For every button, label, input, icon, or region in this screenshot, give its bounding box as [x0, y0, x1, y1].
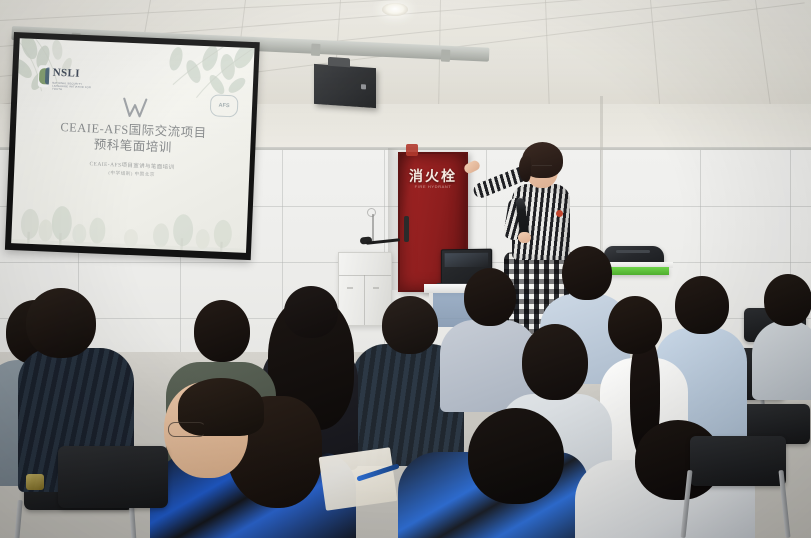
presenter-pointing-hand [463, 159, 482, 175]
botanical-decoration-icon [149, 38, 254, 126]
mic-cable [372, 214, 374, 242]
slide-bottom-illustration [11, 187, 248, 253]
attendee-head [608, 296, 662, 354]
chair-sticker-icon [26, 474, 44, 490]
attendee-head [194, 300, 250, 362]
w-monogram-icon [120, 97, 149, 125]
recessed-ceiling-light [382, 3, 408, 16]
attendee-head [464, 268, 516, 326]
presenter-hand [518, 232, 531, 243]
presenter-badge-pin [556, 210, 563, 217]
presenter-glasses-icon [532, 165, 552, 171]
student-head [468, 408, 564, 504]
fire-hydrant-label: 消火栓 [400, 166, 466, 186]
glasses-icon [168, 422, 206, 437]
attendee-head [522, 324, 588, 400]
cabinet-seal-icon [406, 144, 418, 156]
attendee-head [764, 274, 811, 326]
speaker-indicator-icon [361, 84, 366, 89]
afs-badge-text: AFS [218, 103, 229, 109]
cabinet-handle[interactable] [404, 216, 409, 242]
nsli-logo: NSLI NATIONAL SECURITY LANGUAGE INITIATI… [38, 63, 95, 91]
wall-speaker [314, 64, 376, 108]
presenter-hair-side [519, 156, 531, 182]
speaker-bracket [328, 57, 350, 68]
list-item [398, 408, 588, 538]
fire-hydrant-sublabel: FIRE HYDRANT [400, 184, 466, 189]
projector-screen: NSLI NATIONAL SECURITY LANGUAGE INITIATI… [5, 32, 260, 260]
nsli-logo-subtext: NATIONAL SECURITY LANGUAGE INITIATIVE FO… [52, 82, 94, 93]
attendee-head [562, 246, 612, 300]
slide-title-block: CEAIE-AFS国际交流项目 预科笔面培训 CEAIE-AFS项目宣讲与笔面培… [14, 118, 251, 182]
attendee-head [284, 286, 338, 338]
classroom-photo-scene: NSLI NATIONAL SECURITY LANGUAGE INITIATI… [0, 0, 811, 538]
nsli-logo-mark-icon [38, 65, 50, 87]
afs-badge-icon: AFS [210, 94, 239, 117]
list-item [752, 274, 811, 394]
attendee-head [26, 288, 96, 358]
nsli-logo-text: NSLI [52, 67, 80, 80]
attendee-head [382, 296, 438, 354]
attendee-body [752, 320, 811, 400]
